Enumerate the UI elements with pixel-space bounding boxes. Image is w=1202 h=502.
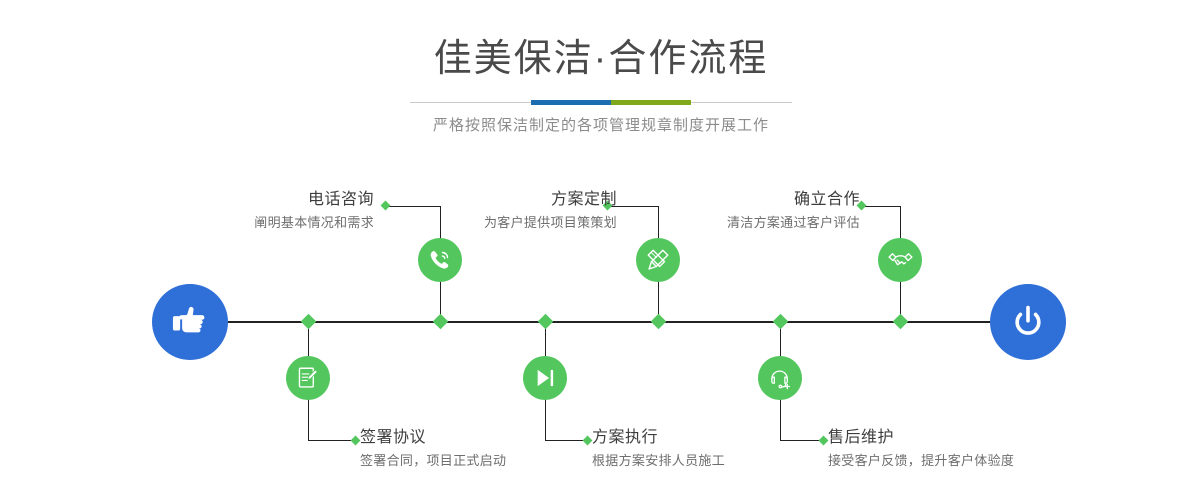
step-node-3 [636,238,680,282]
step-desc-2: 签署合同，项目正式启动 [360,452,506,471]
step-node-4 [523,356,567,400]
step-label-1: 电话咨询 阐明基本情况和需求 [254,188,374,233]
step-title-4: 方案执行 [592,426,725,449]
label-dot-step-2 [351,436,361,446]
headset-support-icon [767,365,793,391]
timeline-start-endpoint [152,284,228,360]
step-label-6: 售后维护 接受客户反馈，提升客户体验度 [828,426,1014,471]
step-label-5: 确立合作 清洁方案通过客户评估 [727,188,860,233]
step-label-3: 方案定制 为客户提供项目策策划 [484,188,617,233]
diamond-marker-step-1 [433,314,449,330]
step-node-5 [878,238,922,282]
diamond-marker-step-2 [301,314,317,330]
document-pencil-icon [295,365,321,391]
step-title-5: 确立合作 [727,188,860,211]
handshake-icon [887,247,914,274]
step-desc-6: 接受客户反馈，提升客户体验度 [828,452,1014,471]
step-label-4: 方案执行 根据方案安排人员施工 [592,426,725,471]
label-dot-step-4 [583,436,593,446]
pencil-ruler-icon [645,247,671,273]
power-icon [1007,301,1049,343]
step-desc-3: 为客户提供项目策策划 [484,214,617,233]
timeline: 电话咨询 阐明基本情况和需求 签署协议 [0,0,1202,502]
pointing-hand-icon [169,301,211,343]
diamond-marker-step-4 [538,314,554,330]
step-desc-5: 清洁方案通过客户评估 [727,214,860,233]
step-node-6 [758,356,802,400]
phone-call-icon [427,247,453,273]
step-node-2 [286,356,330,400]
label-dot-step-6 [819,436,829,446]
step-title-3: 方案定制 [484,188,617,211]
diamond-marker-step-6 [773,314,789,330]
step-desc-4: 根据方案安排人员施工 [592,452,725,471]
step-desc-1: 阐明基本情况和需求 [254,214,374,233]
step-title-1: 电话咨询 [254,188,374,211]
step-node-1 [418,238,462,282]
connector-elbow-step-4 [545,440,587,441]
timeline-end-endpoint [990,284,1066,360]
diamond-marker-step-3 [651,314,667,330]
step-label-2: 签署协议 签署合同，项目正式启动 [360,426,506,471]
connector-elbow-step-5 [862,206,901,207]
connector-elbow-step-2 [308,440,356,441]
process-flow-infographic: 佳美保洁·合作流程 严格按照保洁制定的各项管理规章制度开展工作 [0,0,1202,502]
connector-elbow-step-1 [386,206,441,207]
step-title-2: 签署协议 [360,426,506,449]
diamond-marker-step-5 [893,314,909,330]
label-dot-step-1 [381,201,391,211]
play-execute-icon [532,365,558,391]
step-title-6: 售后维护 [828,426,1014,449]
